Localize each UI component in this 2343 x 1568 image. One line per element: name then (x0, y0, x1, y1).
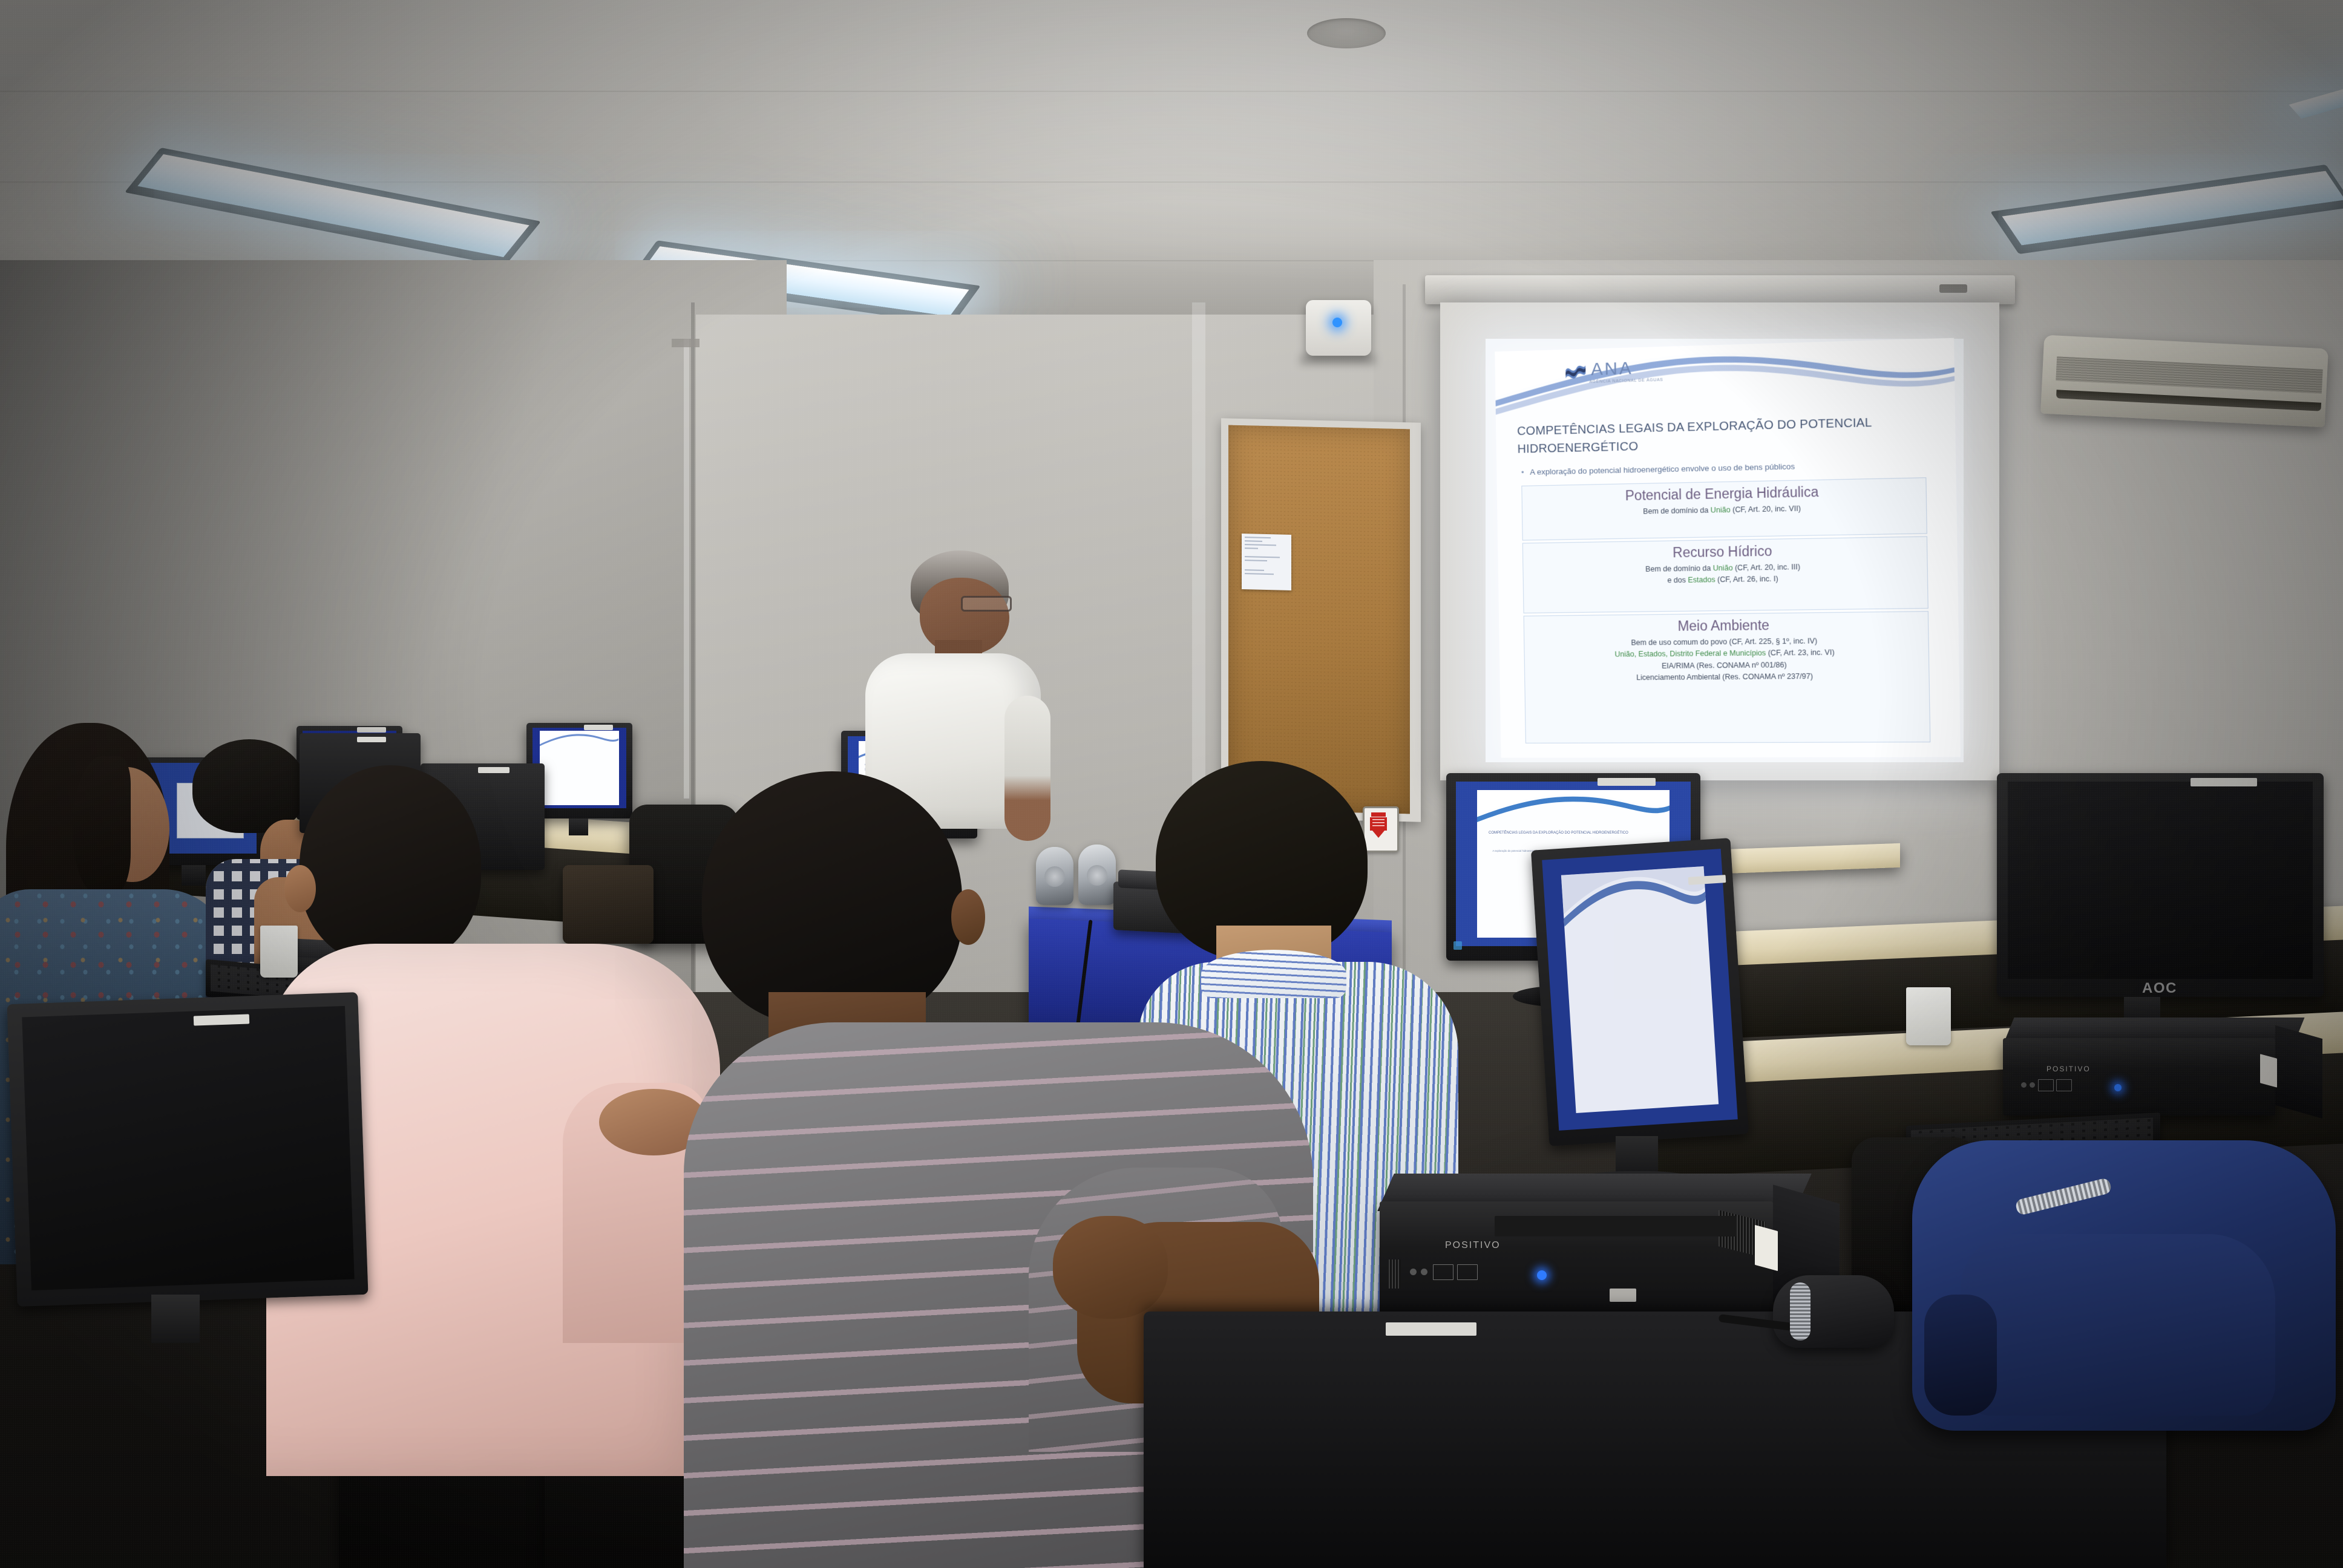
ana-logo-text: ANA (1591, 359, 1633, 379)
ana-logo-mark-icon (1564, 361, 1587, 380)
man-striped-gray-hand (1053, 1216, 1168, 1319)
man-striped-blue-collar-stripes (1201, 950, 1346, 998)
pc-tower-center-jack-2 (1421, 1269, 1427, 1275)
instructor-arm (1004, 696, 1050, 841)
pc-tower-right-jack-1 (2021, 1082, 2027, 1088)
monitor-foreground-bottom-tag (1386, 1322, 1476, 1336)
pc-tower-center-optical-drive (1495, 1216, 1737, 1236)
fire-extinguisher-arrow-icon (1369, 812, 1388, 838)
slide-highlight-term: União, Estados, Distrito Federal e Munic… (1614, 649, 1766, 659)
projected-slide: ANA AGÊNCIA NACIONAL DE ÁGUAS COMPETÊNCI… (1495, 338, 1961, 758)
man-striped-gray-head (702, 771, 962, 1025)
pc-tower-right-brand: POSITIVO (2046, 1065, 2091, 1073)
man-checkered-head (192, 739, 306, 833)
monitor-backrow-rear-tag (478, 767, 510, 773)
monitor-foreground-slide (1561, 866, 1719, 1113)
monitor-back-2-slide (540, 731, 618, 805)
slide-box-1: Potencial de Energia Hidráulica Bem de d… (1521, 477, 1927, 540)
slide-highlight-term: União (1711, 505, 1731, 514)
slide-box-2-lines: Bem de domínio da União (CF, Art. 20, in… (1525, 560, 1925, 589)
woman-left-hair-front (73, 756, 131, 895)
slide-box-3-lines: Bem de uso comum do povo (CF, Art. 225, … (1527, 634, 1927, 685)
man-pink-head (300, 765, 481, 965)
monitor-right-back-power-led (1453, 941, 1462, 950)
cup-right[interactable] (1906, 987, 1951, 1045)
pc-tower-center-jack-1 (1410, 1269, 1417, 1275)
slide-bullet: A exploração do potencial hidroenergétic… (1521, 459, 1938, 477)
instructor-glasses (961, 596, 1012, 612)
slide-highlight-term: Estados (1688, 575, 1715, 584)
slide-highlight-term: União (1713, 563, 1733, 572)
pc-tower-center-brand: POSITIVO (1445, 1240, 1501, 1251)
ana-logo: ANA (1564, 359, 1633, 379)
headphones-zipper (1790, 1282, 1810, 1341)
projection-screen-case-detail (1939, 284, 1967, 293)
monitor-right-back-title: COMPETÊNCIAS LEGAIS DA EXPLORAÇÃO DO POT… (1489, 831, 1658, 836)
man-striped-gray-ear (951, 889, 985, 945)
monitor-foreground-left-screen (22, 1006, 354, 1290)
bulletin-board-texture (1228, 425, 1410, 814)
backpack-strap (1924, 1295, 1997, 1416)
backpack-front-pocket (1961, 1234, 2275, 1416)
monitor-far-right-screen (2008, 782, 2313, 979)
man-pink-ear (284, 865, 316, 912)
wall-bracket (672, 339, 700, 347)
pc-tower-center-badge (1610, 1289, 1636, 1302)
wall-conduit (684, 339, 689, 799)
ceiling-vent (1307, 18, 1386, 48)
slide-wave-graphic (1495, 338, 1955, 423)
bulletin-board-notice (1242, 534, 1291, 590)
slide-box-3: Meio Ambiente Bem de uso comum do povo (… (1524, 611, 1931, 743)
speaker-cone-left (1044, 866, 1065, 887)
wifi-ap-shadow (1300, 354, 1376, 365)
wifi-access-point (1306, 300, 1371, 356)
slide-box-line: Licenciamento Ambiental (Res. CONAMA nº … (1527, 670, 1927, 685)
monitor-far-right-brand: AOC (2142, 980, 2177, 997)
monitor-rear-dark-left-tag (357, 737, 386, 742)
projection-screen-case (1425, 275, 2015, 304)
slide-box-3-heading: Meio Ambiente (1527, 615, 1926, 636)
speaker-cone-right (1087, 865, 1107, 886)
cup-left[interactable] (260, 926, 298, 978)
classroom-photo-scene: ANA AGÊNCIA NACIONAL DE ÁGUAS COMPETÊNCI… (0, 0, 2343, 1568)
wifi-status-led (1332, 318, 1342, 327)
slide-box-2: Recurso Hídrico Bem de domínio da União … (1522, 536, 1928, 613)
bag-left[interactable] (563, 865, 654, 944)
pc-tower-right-jack-2 (2030, 1082, 2035, 1088)
